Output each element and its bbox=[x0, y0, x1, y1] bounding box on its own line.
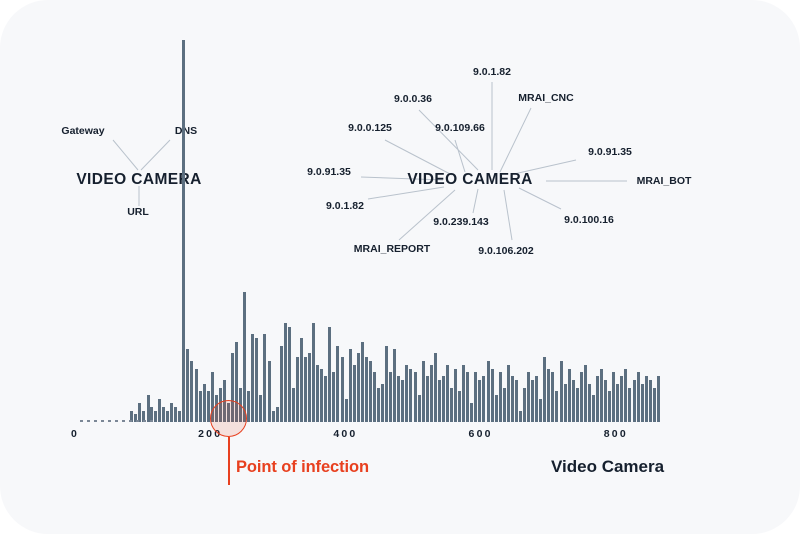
bar bbox=[584, 365, 587, 422]
bar bbox=[596, 376, 599, 422]
bar bbox=[284, 323, 287, 422]
point-of-infection-highlight bbox=[210, 400, 247, 437]
bar bbox=[263, 334, 266, 422]
bar bbox=[349, 349, 352, 422]
bar bbox=[531, 380, 534, 422]
chart-stage: VIDEO CAMERA Gateway DNS URL bbox=[0, 0, 800, 534]
bar bbox=[203, 384, 206, 422]
bar bbox=[304, 357, 307, 422]
bar bbox=[405, 365, 408, 422]
bar bbox=[641, 384, 644, 422]
bar bbox=[288, 327, 291, 423]
bar bbox=[430, 365, 433, 422]
bar bbox=[276, 407, 279, 422]
x-axis: 0200400600800 bbox=[0, 428, 800, 446]
bar bbox=[580, 372, 583, 422]
bar bbox=[316, 365, 319, 422]
bar bbox=[442, 376, 445, 422]
bar bbox=[255, 338, 258, 422]
bar bbox=[361, 342, 364, 422]
bar bbox=[507, 365, 510, 422]
bar bbox=[564, 384, 567, 422]
bar bbox=[336, 346, 339, 422]
bar bbox=[312, 323, 315, 422]
bar bbox=[393, 349, 396, 422]
bar bbox=[186, 349, 189, 422]
bar bbox=[272, 411, 275, 422]
bar bbox=[458, 391, 461, 422]
bar bbox=[369, 361, 372, 422]
bar bbox=[308, 353, 311, 422]
bar bbox=[645, 376, 648, 422]
bar bbox=[345, 399, 348, 422]
bar bbox=[268, 361, 271, 422]
bar bbox=[190, 361, 193, 422]
bar bbox=[292, 388, 295, 422]
bar bbox=[620, 376, 623, 422]
bar bbox=[519, 411, 522, 422]
bar bbox=[365, 357, 368, 422]
bar bbox=[401, 380, 404, 422]
bar bbox=[555, 391, 558, 422]
bar bbox=[328, 327, 331, 423]
bar bbox=[592, 395, 595, 422]
bar bbox=[247, 391, 250, 422]
bar bbox=[478, 380, 481, 422]
bar bbox=[300, 338, 303, 422]
bar bbox=[612, 372, 615, 422]
bar bbox=[418, 395, 421, 422]
bar bbox=[154, 411, 157, 422]
bar bbox=[332, 372, 335, 422]
bar bbox=[503, 388, 506, 422]
x-axis-tick-800: 800 bbox=[604, 428, 628, 440]
bar bbox=[649, 380, 652, 422]
bar bbox=[633, 380, 636, 422]
bar bbox=[170, 403, 173, 422]
bar bbox=[616, 384, 619, 422]
bar bbox=[422, 361, 425, 422]
bar bbox=[568, 369, 571, 422]
bar bbox=[243, 292, 246, 422]
bar bbox=[377, 388, 380, 422]
bar bbox=[409, 369, 412, 422]
bar bbox=[320, 369, 323, 422]
x-axis-tick-0: 0 bbox=[71, 428, 79, 440]
bar bbox=[576, 388, 579, 422]
bar bbox=[572, 380, 575, 422]
bars-layer bbox=[0, 0, 800, 422]
bar bbox=[491, 369, 494, 422]
bar bbox=[174, 407, 177, 422]
bar bbox=[385, 346, 388, 422]
bar bbox=[624, 369, 627, 422]
bar bbox=[474, 372, 477, 422]
point-of-infection-label: Point of infection bbox=[236, 458, 369, 477]
bar bbox=[373, 372, 376, 422]
bar bbox=[535, 376, 538, 422]
bar bbox=[434, 353, 437, 422]
bar bbox=[628, 388, 631, 422]
bar bbox=[604, 380, 607, 422]
bar bbox=[450, 388, 453, 422]
bar bbox=[259, 395, 262, 422]
bar bbox=[414, 372, 417, 422]
bar bbox=[653, 388, 656, 422]
bar-chart: 0200400600800 bbox=[0, 0, 800, 534]
bar bbox=[195, 369, 198, 422]
bar bbox=[487, 361, 490, 422]
bar bbox=[547, 369, 550, 422]
chart-card: VIDEO CAMERA Gateway DNS URL bbox=[0, 0, 800, 534]
bar bbox=[466, 372, 469, 422]
bar bbox=[560, 361, 563, 422]
bar bbox=[296, 357, 299, 422]
bar bbox=[166, 411, 169, 422]
bar bbox=[608, 391, 611, 422]
bar bbox=[199, 391, 202, 422]
bar bbox=[389, 372, 392, 422]
bar bbox=[341, 357, 344, 422]
bar bbox=[600, 369, 603, 422]
bar bbox=[482, 376, 485, 422]
bar bbox=[511, 376, 514, 422]
bar bbox=[251, 334, 254, 422]
bar bbox=[182, 40, 185, 422]
bar bbox=[158, 399, 161, 422]
bar bbox=[588, 384, 591, 422]
bar bbox=[324, 376, 327, 422]
bar bbox=[353, 365, 356, 422]
bar bbox=[499, 372, 502, 422]
bar bbox=[446, 365, 449, 422]
bar bbox=[438, 380, 441, 422]
bar bbox=[637, 372, 640, 422]
bar bbox=[397, 376, 400, 422]
bar bbox=[426, 376, 429, 422]
bar bbox=[462, 365, 465, 422]
bar bbox=[657, 376, 660, 422]
bar bbox=[280, 346, 283, 422]
bar bbox=[162, 407, 165, 422]
bar bbox=[523, 388, 526, 422]
x-axis-tick-600: 600 bbox=[469, 428, 493, 440]
bar bbox=[178, 411, 181, 422]
bar bbox=[381, 384, 384, 422]
bar bbox=[551, 372, 554, 422]
point-of-infection-stem bbox=[228, 437, 230, 485]
bar bbox=[527, 372, 530, 422]
bar bbox=[357, 353, 360, 422]
chart-caption: Video Camera bbox=[551, 457, 664, 477]
baseline-dotted-segment bbox=[80, 420, 154, 422]
bar bbox=[454, 369, 457, 422]
bar bbox=[470, 403, 473, 422]
bar bbox=[539, 399, 542, 422]
x-axis-tick-400: 400 bbox=[333, 428, 357, 440]
bar bbox=[543, 357, 546, 422]
bar bbox=[515, 380, 518, 422]
bar bbox=[495, 395, 498, 422]
